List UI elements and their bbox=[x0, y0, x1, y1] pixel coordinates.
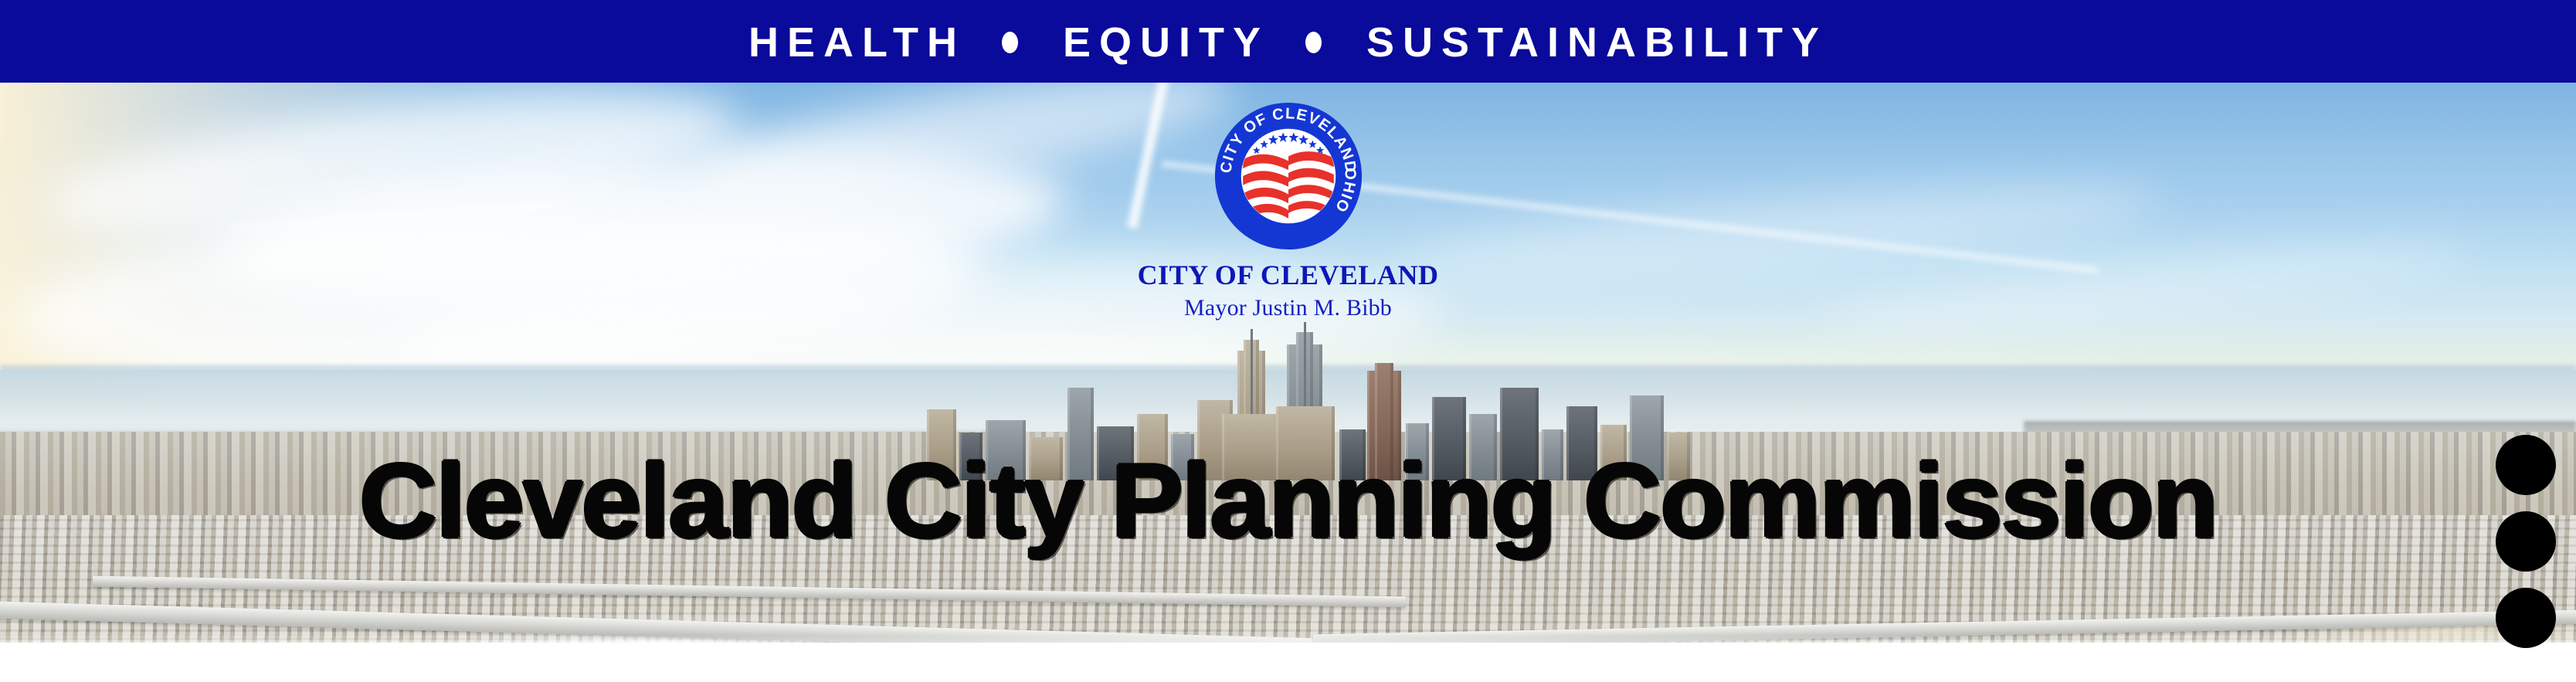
facebook-icon bbox=[2507, 599, 2544, 636]
bullet-dot-icon bbox=[1002, 32, 1018, 53]
tagline-inner: HEALTH EQUITY SUSTAINABILITY bbox=[748, 22, 1828, 63]
tagline-word-health: HEALTH bbox=[748, 22, 966, 63]
hero-photo bbox=[0, 83, 2576, 643]
youtube-link[interactable] bbox=[2496, 435, 2556, 495]
instagram-icon bbox=[2507, 523, 2544, 560]
photo-bottom-edge bbox=[0, 635, 2576, 643]
bullet-dot-icon bbox=[1305, 32, 1322, 53]
tagline-word-equity: EQUITY bbox=[1063, 22, 1269, 63]
tagline-word-sustainability: SUSTAINABILITY bbox=[1366, 22, 1828, 63]
social-media-rail bbox=[2496, 435, 2556, 648]
facebook-link[interactable] bbox=[2496, 588, 2556, 648]
youtube-icon bbox=[2507, 446, 2544, 484]
downtown-skyline bbox=[927, 338, 1699, 480]
tagline-banner: HEALTH EQUITY SUSTAINABILITY bbox=[0, 0, 2576, 83]
instagram-link[interactable] bbox=[2496, 511, 2556, 572]
page-root: HEALTH EQUITY SUSTAINABILITY bbox=[0, 0, 2576, 682]
